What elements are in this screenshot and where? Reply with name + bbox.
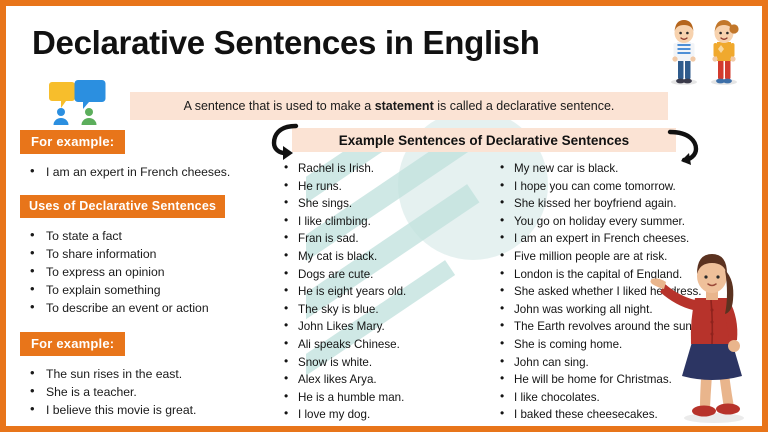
page-title: Declarative Sentences in English [32,24,540,62]
list-item: I believe this movie is great. [20,401,272,419]
definition-emphasis: statement [375,99,434,113]
list-item: She is a teacher. [20,383,272,401]
list-item: Fran is sad. [274,230,484,248]
list-item: You go on holiday every summer. [490,213,694,231]
left-column: For example: I am an expert in French ch… [20,130,272,419]
poster-header: Declarative Sentences in English [6,6,768,78]
list-item: Rachel is Irish. [274,160,484,178]
infographic-poster: Declarative Sentences in English [0,0,768,432]
example-sentences-heading: Example Sentences of Declarative Sentenc… [339,133,629,148]
list-item: I love my dog. [274,406,484,424]
definition-text: A sentence that is used to make a statem… [184,99,615,113]
uses-list: To state a fact To share information To … [20,227,272,317]
list-item: I like climbing. [274,213,484,231]
list-item: Snow is white. [274,354,484,372]
examples-list-2: The sun rises in the east. She is a teac… [20,365,272,419]
list-item: Alex likes Arya. [274,371,484,389]
definition-prefix: A sentence that is used to make a [184,99,375,113]
list-item: She sings. [274,195,484,213]
two-children-talking-illustration [656,14,754,86]
example-sentences-panel: Example Sentences of Declarative Sentenc… [274,128,694,424]
curved-arrow-left-icon [270,122,304,160]
uses-heading: Uses of Declarative Sentences [20,195,225,218]
definition-banner: A sentence that is used to make a statem… [130,92,668,120]
list-item: Ali speaks Chinese. [274,336,484,354]
definition-suffix: is called a declarative sentence. [434,99,615,113]
list-item: The sky is blue. [274,301,484,319]
list-item: To explain something [20,281,272,299]
list-item: My new car is black. [490,160,694,178]
example-sentences-heading-bar: Example Sentences of Declarative Sentenc… [292,128,676,152]
list-item: To state a fact [20,227,272,245]
list-item: My cat is black. [274,248,484,266]
list-item: The sun rises in the east. [20,365,272,383]
for-example-heading-2: For example: [20,332,125,356]
list-item: He runs. [274,178,484,196]
examples-list-1: I am an expert in French cheeses. [20,163,272,181]
example-column-left: Rachel is Irish. He runs. She sings. I l… [274,160,484,424]
teacher-pointing-illustration [648,246,760,424]
list-item: John Likes Mary. [274,318,484,336]
list-item: She kissed her boyfriend again. [490,195,694,213]
list-item: Dogs are cute. [274,266,484,284]
speech-bubbles-people-icon [42,78,112,126]
list-item: I am an expert in French cheeses. [20,163,272,181]
list-item: To describe an event or action [20,299,272,317]
example-list-left: Rachel is Irish. He runs. She sings. I l… [274,160,484,424]
list-item: To share information [20,245,272,263]
list-item: To express an opinion [20,263,272,281]
example-sentences-columns: Rachel is Irish. He runs. She sings. I l… [274,160,694,424]
list-item: He is eight years old. [274,283,484,301]
list-item: He is a humble man. [274,389,484,407]
list-item: I hope you can come tomorrow. [490,178,694,196]
for-example-heading-1: For example: [20,130,125,154]
